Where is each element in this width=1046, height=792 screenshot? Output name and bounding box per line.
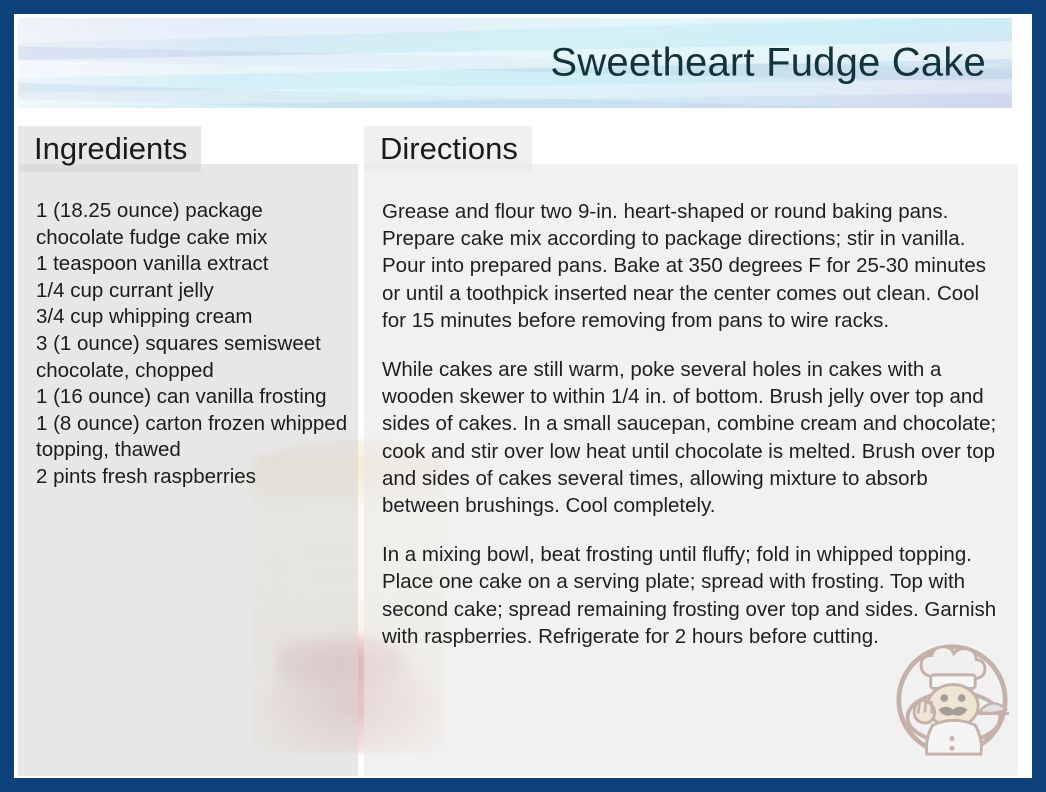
- recipe-card: Sweetheart Fudge Cake Ingredients 1 (18.…: [0, 0, 1046, 792]
- ingredient-line: chocolate fudge cake mix: [36, 225, 342, 252]
- ingredient-line: 1/4 cup currant jelly: [36, 278, 342, 305]
- page-title: Sweetheart Fudge Cake: [550, 41, 986, 86]
- direction-paragraph: Grease and flour two 9-in. heart-shaped …: [382, 198, 1002, 334]
- direction-paragraph: In a mixing bowl, beat frosting until fl…: [382, 541, 1002, 650]
- ingredients-column: Ingredients 1 (18.25 ounce) package choc…: [18, 164, 358, 776]
- directions-body: Grease and flour two 9-in. heart-shaped …: [364, 164, 1018, 650]
- ingredient-line: 1 teaspoon vanilla extract: [36, 251, 342, 278]
- ingredient-line: chocolate, chopped: [36, 358, 342, 385]
- ingredient-line: 3/4 cup whipping cream: [36, 304, 342, 331]
- direction-paragraph: While cakes are still warm, poke several…: [382, 356, 1002, 519]
- ingredient-line: 1 (18.25 ounce) package: [36, 198, 342, 225]
- ingredient-line: 1 (8 ounce) carton frozen whipped: [36, 411, 342, 438]
- directions-column: Directions Grease and flour two 9-in. he…: [364, 164, 1018, 776]
- ingredient-line: topping, thawed: [36, 437, 342, 464]
- ingredient-line: 3 (1 ounce) squares semisweet: [36, 331, 342, 358]
- header-banner: Sweetheart Fudge Cake: [18, 18, 1012, 108]
- ingredients-list: 1 (18.25 ounce) package chocolate fudge …: [18, 164, 358, 491]
- ingredient-line: 1 (16 ounce) can vanilla frosting: [36, 384, 342, 411]
- ingredient-line: 2 pints fresh raspberries: [36, 464, 342, 491]
